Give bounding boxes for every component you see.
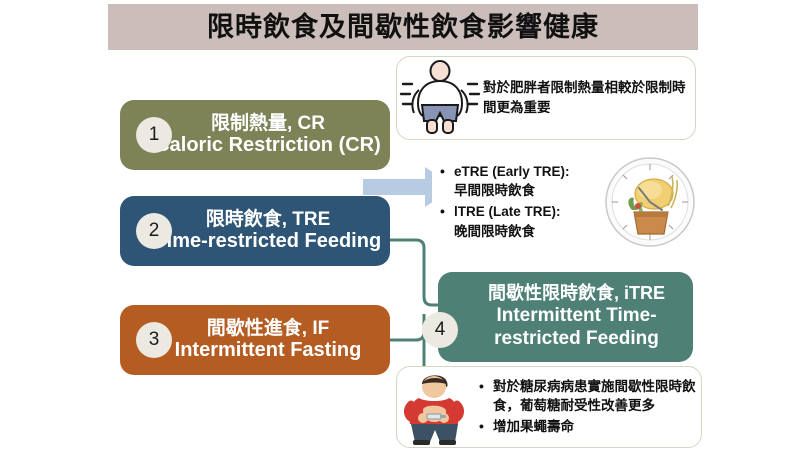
- diabetes-benefit-list: 對於糖尿病病患實施間歇性限時飲食，葡萄糖耐受性改善更多 增加果蠅壽命: [477, 377, 701, 437]
- concept-3-name-cn: 間歇性進食, IF: [175, 318, 362, 340]
- concept-badge-4: 4: [422, 312, 458, 348]
- concept-badge-3: 3: [136, 322, 172, 358]
- etre-term: eTRE (Early TRE):: [454, 164, 570, 179]
- concept-2-name-en: Time-restricted Feeding: [155, 230, 381, 253]
- callout-top-body: 對於肥胖者限制熱量相較於限制時間更為重要: [483, 78, 695, 117]
- concept-4-name-en-line1: Intermittent Time-: [488, 305, 665, 328]
- concept-3-name-en: Intermittent Fasting: [175, 339, 362, 362]
- page-title: 限時飲食及間歇性飲食影響健康: [207, 14, 599, 41]
- concept-4-name-cn: 間歇性限時飲食, iTRE: [488, 283, 665, 305]
- concept-2-name-cn: 限時飲食, TRE: [155, 209, 381, 231]
- concept-box-4-text: 間歇性限時飲食, iTRE Intermittent Time- restric…: [466, 283, 665, 350]
- concept-1-name-cn: 限制熱量, CR: [155, 113, 381, 135]
- concept-box-3-text: 間歇性進食, IF Intermittent Fasting: [149, 318, 362, 363]
- tre-type-list: eTRE (Early TRE): 早間限時飲食 lTRE (Late TRE)…: [438, 162, 600, 241]
- list-item: eTRE (Early TRE): 早間限時飲食: [438, 162, 600, 201]
- concept-badge-1: 1: [136, 117, 172, 153]
- concept-box-intermittent-fasting[interactable]: 3 間歇性進食, IF Intermittent Fasting: [120, 305, 390, 375]
- callout-top-text: 對於肥胖者限制熱量相較於限制時間更為重要: [483, 78, 695, 117]
- callout-bottom-body: 對於糖尿病病患實施間歇性限時飲食，葡萄糖耐受性改善更多 增加果蠅壽命: [477, 377, 701, 438]
- concept-box-caloric-restriction[interactable]: 1 限制熱量, CR Caloric Restriction (CR): [120, 100, 390, 170]
- infographic-canvas: 限時飲食及間歇性飲食影響健康 1 限制熱量, CR Caloric Restri…: [0, 0, 800, 450]
- ltre-term: lTRE (Late TRE):: [454, 204, 561, 219]
- diabetic-person-insulin-icon: [397, 368, 477, 446]
- callout-diabetes-benefits: 對於糖尿病病患實施間歇性限時飲食，葡萄糖耐受性改善更多 增加果蠅壽命: [396, 366, 702, 448]
- concept-box-time-restricted-feeding[interactable]: 2 限時飲食, TRE Time-restricted Feeding: [120, 196, 390, 266]
- obese-person-icon: [397, 58, 483, 138]
- concept-4-name-en-line2: restricted Feeding: [488, 328, 665, 351]
- list-item: lTRE (Late TRE): 晚間限時飲食: [438, 202, 600, 241]
- concept-box-intermittent-time-restricted-feeding[interactable]: 4 間歇性限時飲食, iTRE Intermittent Time- restr…: [438, 272, 693, 362]
- etre-detail: 早間限時飲食: [454, 181, 600, 201]
- list-item: 對於糖尿病病患實施間歇性限時飲食，葡萄糖耐受性改善更多: [477, 377, 701, 416]
- clock-food-icon: [600, 152, 700, 252]
- concept-1-name-en: Caloric Restriction (CR): [155, 134, 381, 157]
- callout-middle-body: eTRE (Early TRE): 早間限時飲食 lTRE (Late TRE)…: [432, 162, 600, 242]
- callout-caloric-restriction: 對於肥胖者限制熱量相較於限制時間更為重要: [396, 56, 696, 140]
- callout-tre-types: eTRE (Early TRE): 早間限時飲食 lTRE (Late TRE)…: [432, 148, 700, 256]
- concept-badge-2: 2: [136, 213, 172, 249]
- list-item: 增加果蠅壽命: [477, 417, 701, 437]
- title-banner: 限時飲食及間歇性飲食影響健康: [108, 4, 698, 50]
- ltre-detail: 晚間限時飲食: [454, 222, 600, 242]
